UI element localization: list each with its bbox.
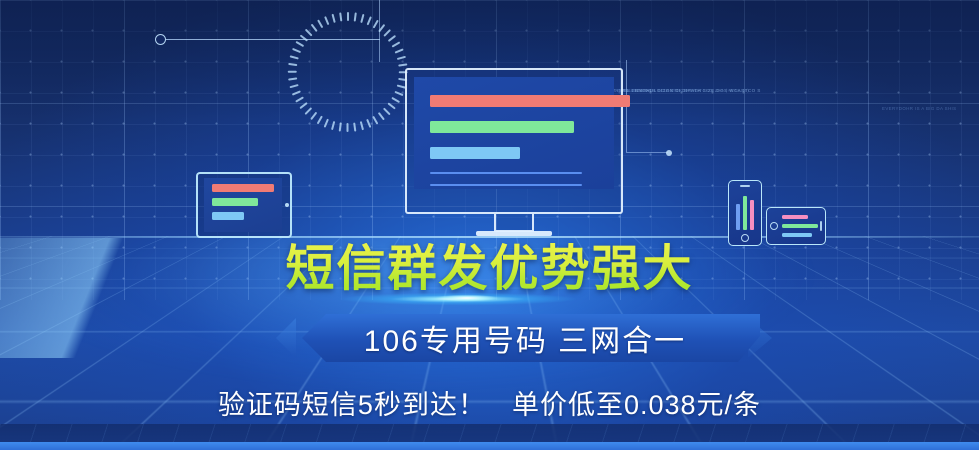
dial-tick	[398, 63, 407, 66]
tablet-screen	[204, 178, 282, 232]
dial-tick	[378, 112, 385, 120]
dial-tick	[292, 48, 301, 53]
dial-tick	[395, 91, 404, 96]
dial-tick	[288, 71, 297, 73]
dial-tick	[317, 116, 323, 125]
data-bar	[212, 212, 244, 220]
bottom-band	[0, 424, 979, 442]
subtitle-line: 验证码短信5秒到达！单价低至0.038元/条	[0, 383, 979, 422]
connector-node-icon	[155, 34, 166, 45]
radial-tick-dial-icon	[288, 12, 408, 132]
dial-tick	[360, 14, 364, 23]
bottom-accent-strip	[0, 442, 979, 450]
phone-home-button-icon	[741, 234, 749, 242]
dial-tick	[373, 116, 379, 125]
dial-tick	[392, 97, 401, 103]
monitor-stand-neck	[494, 214, 534, 232]
phone-speaker-icon	[820, 221, 822, 231]
dial-tick	[347, 12, 349, 21]
dial-tick	[397, 56, 406, 60]
tablet-home-dot-icon	[285, 203, 289, 207]
dial-tick	[290, 56, 299, 60]
dial-tick	[360, 121, 364, 130]
subtitle-right: 单价低至0.038元/条	[512, 390, 761, 420]
decorative-text-line: EVERYDOHR IS A BIG DA SHIS	[882, 104, 957, 114]
dial-tick	[300, 35, 308, 42]
data-bar	[782, 233, 812, 237]
dial-tick	[354, 122, 357, 131]
dial-tick	[388, 35, 396, 42]
dial-tick	[373, 20, 379, 29]
data-bar	[212, 184, 274, 192]
page-title: 短信群发优势强大	[0, 243, 979, 295]
monitor-screen	[414, 77, 614, 189]
dial-tick	[332, 121, 336, 130]
data-bar	[430, 95, 630, 107]
monitor-stand-base	[476, 231, 552, 236]
dial-tick	[300, 102, 308, 109]
desktop-monitor	[405, 68, 623, 214]
subtitle-left: 验证码短信5秒到达！	[218, 390, 486, 420]
data-bar-vertical	[736, 204, 740, 230]
dial-tick	[388, 102, 396, 109]
dial-tick	[384, 29, 391, 36]
dial-tick	[339, 12, 342, 21]
dial-tick	[384, 108, 391, 115]
dial-tick	[332, 14, 336, 23]
data-bar	[430, 147, 520, 159]
dial-tick	[296, 97, 305, 103]
data-bar	[430, 184, 582, 186]
dial-tick	[296, 41, 305, 47]
dial-tick	[317, 20, 323, 29]
dial-tick	[288, 78, 297, 81]
dial-tick	[288, 63, 297, 66]
node-pointer-line	[626, 152, 668, 153]
data-bar-vertical	[743, 196, 747, 230]
data-bar	[212, 198, 258, 206]
dial-tick	[367, 119, 372, 128]
dial-tick	[292, 91, 301, 96]
dial-tick	[347, 123, 349, 132]
ribbon-label: 106专用号码 三网合一	[290, 314, 760, 362]
dial-tick	[367, 16, 372, 25]
dial-tick	[395, 48, 404, 53]
data-bar-vertical	[750, 200, 754, 230]
data-bar	[782, 224, 818, 228]
data-bar	[430, 121, 574, 133]
lens-flare-core	[430, 293, 504, 303]
tablet-device	[196, 172, 292, 238]
dial-tick	[305, 108, 312, 115]
dial-tick	[392, 41, 401, 47]
data-bar	[782, 215, 808, 219]
data-bar	[430, 172, 582, 174]
dial-tick	[324, 16, 329, 25]
dial-tick	[339, 122, 342, 131]
dial-tick	[290, 84, 299, 88]
dial-tick	[311, 24, 318, 32]
dial-tick	[378, 24, 385, 32]
dial-tick	[311, 112, 318, 120]
smartphone-landscape	[766, 207, 826, 245]
smartphone-portrait	[728, 180, 762, 246]
phone-landscape-screen	[766, 207, 826, 245]
dial-tick	[324, 119, 329, 128]
dial-tick	[354, 12, 357, 21]
promo-banner: IN ALDIPATH SIZE.DOS WCASTOCO SILA MNDUT…	[0, 0, 979, 450]
dial-tick	[305, 29, 312, 36]
